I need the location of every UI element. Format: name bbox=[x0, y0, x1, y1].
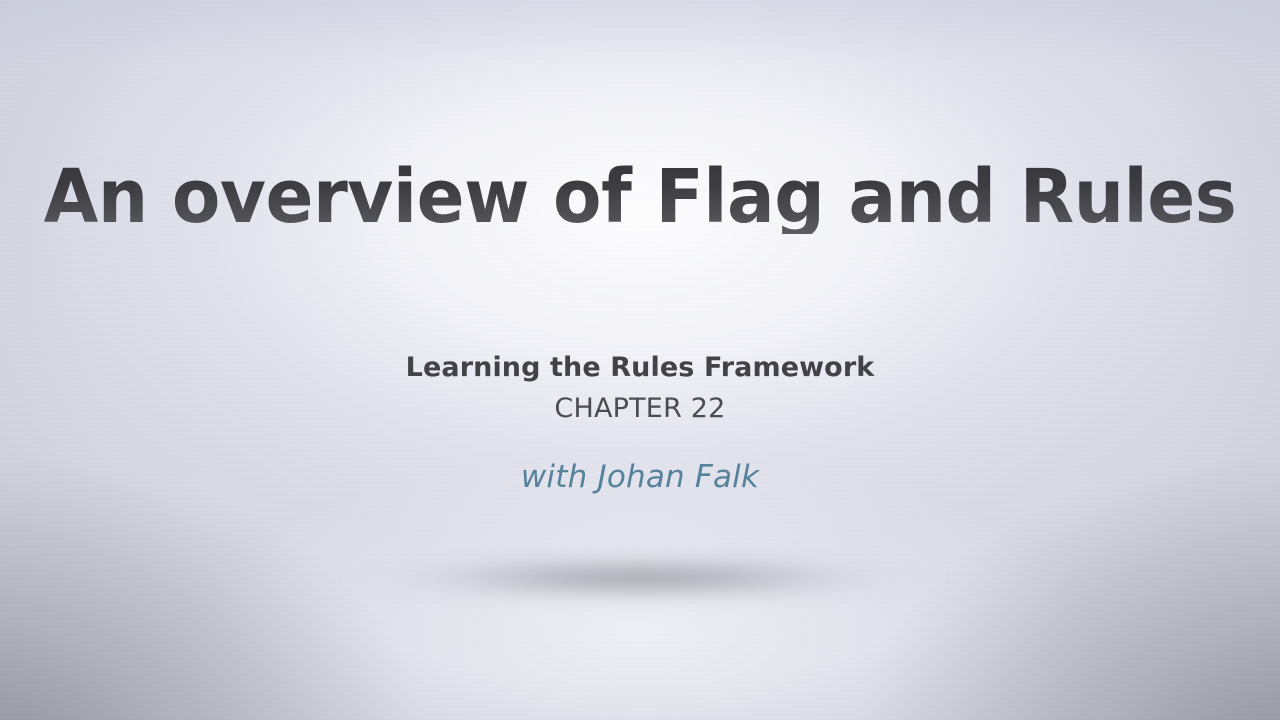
course-name: Learning the Rules Framework bbox=[0, 354, 1280, 381]
slide-subtitle-block: Learning the Rules Framework CHAPTER 22 bbox=[0, 354, 1280, 422]
slide-content: An overview of Flag and Rules Learning t… bbox=[0, 0, 1280, 720]
author-credit: with Johan Falk bbox=[0, 462, 1280, 493]
title-slide: An overview of Flag and Rules Learning t… bbox=[0, 0, 1280, 720]
chapter-label: CHAPTER 22 bbox=[0, 395, 1280, 422]
slide-title: An overview of Flag and Rules bbox=[29, 160, 1251, 234]
